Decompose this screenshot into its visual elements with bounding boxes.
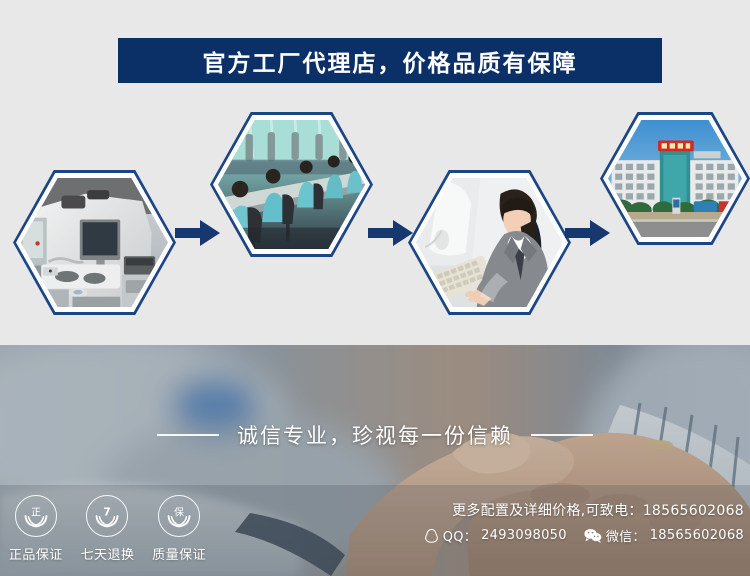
hex-image-clip bbox=[218, 120, 365, 249]
hands-holding-icon: 保 bbox=[164, 501, 194, 531]
office-service-photo bbox=[416, 178, 563, 307]
top-section: 官方工厂代理店，价格品质有保障 bbox=[0, 0, 750, 345]
equipment-photo bbox=[21, 178, 168, 307]
hex-image-clip bbox=[416, 178, 563, 307]
title-banner: 官方工厂代理店，价格品质有保障 bbox=[118, 38, 662, 83]
hex-inner-frame bbox=[16, 173, 173, 312]
badge-glyph: 7 bbox=[104, 506, 111, 518]
wechat-icon bbox=[584, 528, 602, 543]
authentic-guarantee-icon: 正 bbox=[15, 495, 57, 537]
process-step-company-building bbox=[600, 112, 750, 245]
footer-section: 诚信专业，珍视每一份信赖 正 正品保证 7 bbox=[0, 345, 750, 576]
qq-value: 2493098050 bbox=[481, 528, 567, 543]
badge-label: 七天退换 bbox=[80, 544, 134, 563]
phone-line: 更多配置及详细价格,可致电：18565602068 bbox=[452, 500, 744, 520]
arrow-right-icon-1 bbox=[175, 218, 220, 248]
process-step-factory-line bbox=[210, 112, 373, 257]
slogan-row: 诚信专业，珍视每一份信赖 bbox=[0, 418, 750, 452]
badge-authentic: 正 正品保证 bbox=[2, 495, 70, 563]
qq-penguin-icon bbox=[424, 528, 439, 543]
badge-label: 质量保证 bbox=[152, 544, 206, 563]
seven-day-return-icon: 7 bbox=[86, 495, 128, 537]
phone-text: 更多配置及详细价格,可致电：18565602068 bbox=[452, 500, 744, 520]
hands-holding-icon: 正 bbox=[21, 501, 51, 531]
slogan-rule-left bbox=[157, 434, 219, 436]
qq-label: QQ： bbox=[443, 526, 477, 545]
company-building-photo bbox=[608, 120, 742, 237]
hex-inner-frame bbox=[411, 173, 568, 312]
process-step-equipment bbox=[13, 170, 176, 315]
slogan-rule-right bbox=[531, 434, 593, 436]
guarantee-badges: 正 正品保证 7 七天退换 保 bbox=[0, 495, 215, 570]
im-line: QQ： 2493098050 微信： 18565602068 bbox=[424, 526, 744, 545]
wechat-label: 微信： bbox=[606, 526, 646, 545]
badge-quality-guarantee: 保 质量保证 bbox=[145, 495, 213, 563]
hex-image-clip bbox=[21, 178, 168, 307]
badge-seven-day-return: 7 七天退换 bbox=[73, 495, 141, 563]
factory-line-photo bbox=[218, 120, 365, 249]
quality-guarantee-icon: 保 bbox=[158, 495, 200, 537]
page-title: 官方工厂代理店，价格品质有保障 bbox=[203, 44, 578, 78]
hex-inner-frame bbox=[213, 115, 370, 254]
arrow-right-icon-3 bbox=[565, 218, 610, 248]
hands-holding-icon: 7 bbox=[92, 501, 122, 531]
slogan-text: 诚信专业，珍视每一份信赖 bbox=[237, 420, 513, 450]
badge-glyph: 保 bbox=[174, 505, 184, 518]
badge-label: 正品保证 bbox=[9, 544, 63, 563]
arrow-right-icon-2 bbox=[368, 218, 413, 248]
process-step-office-service bbox=[408, 170, 571, 315]
contact-block: 更多配置及详细价格,可致电：18565602068 QQ： 2493098050 bbox=[414, 500, 744, 545]
wechat-value: 18565602068 bbox=[650, 528, 744, 543]
badge-glyph: 正 bbox=[31, 507, 41, 518]
hex-image-clip bbox=[608, 120, 742, 237]
hex-inner-frame bbox=[603, 115, 747, 242]
